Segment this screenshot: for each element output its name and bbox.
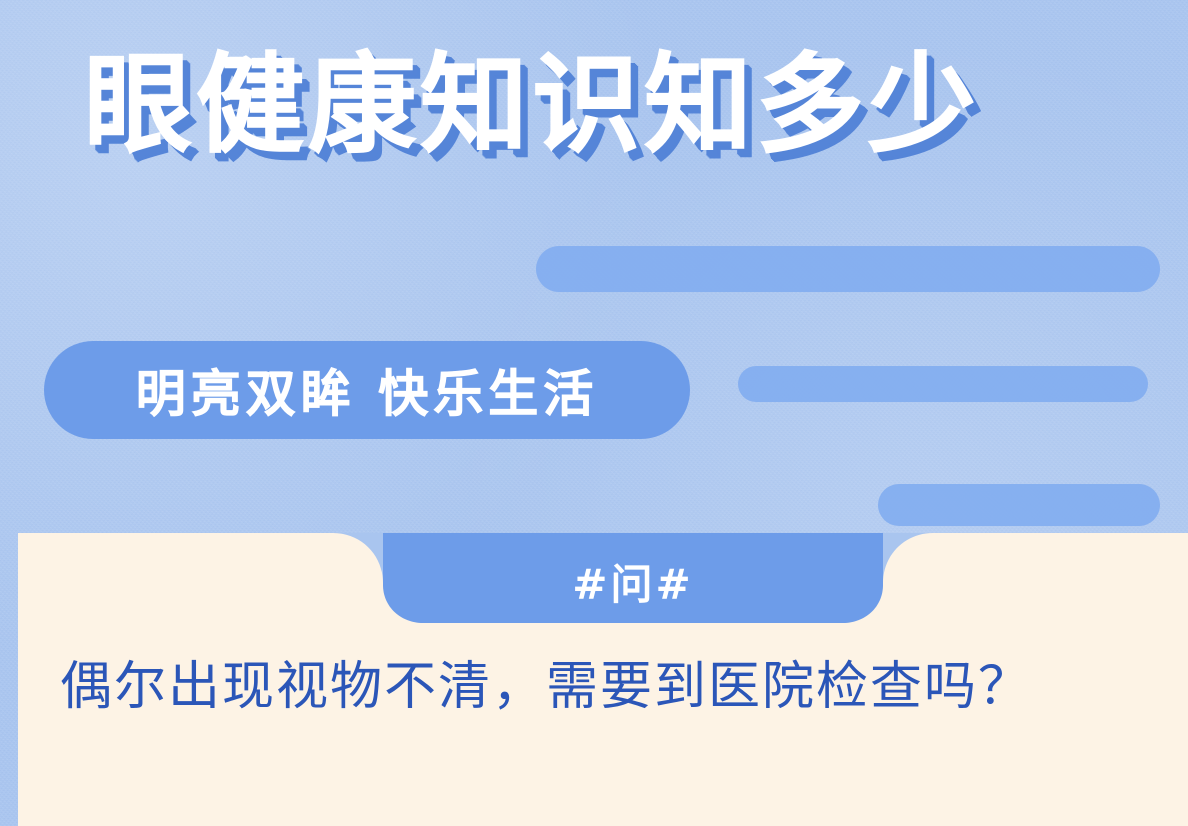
eye-health-infographic-poster: 眼健康知识知多少 明亮双眸 快乐生活 #问# 偶尔出现视物不清，需要到医院检查吗… [0, 0, 1188, 826]
subtitle-pill: 明亮双眸 快乐生活 [44, 341, 690, 439]
tab-notch-left [333, 533, 383, 623]
deco-bar-1 [536, 246, 1160, 292]
question-tab-label: #问# [383, 533, 883, 623]
question-text: 偶尔出现视物不清，需要到医院检查吗？ [60, 648, 1166, 727]
deco-bar-3 [878, 484, 1160, 526]
page-title: 眼健康知识知多少 [84, 46, 980, 167]
tab-notch-right [883, 533, 933, 623]
question-tab: #问# [383, 533, 883, 623]
deco-bar-2 [738, 366, 1148, 402]
subtitle-text: 明亮双眸 快乐生活 [136, 354, 598, 426]
